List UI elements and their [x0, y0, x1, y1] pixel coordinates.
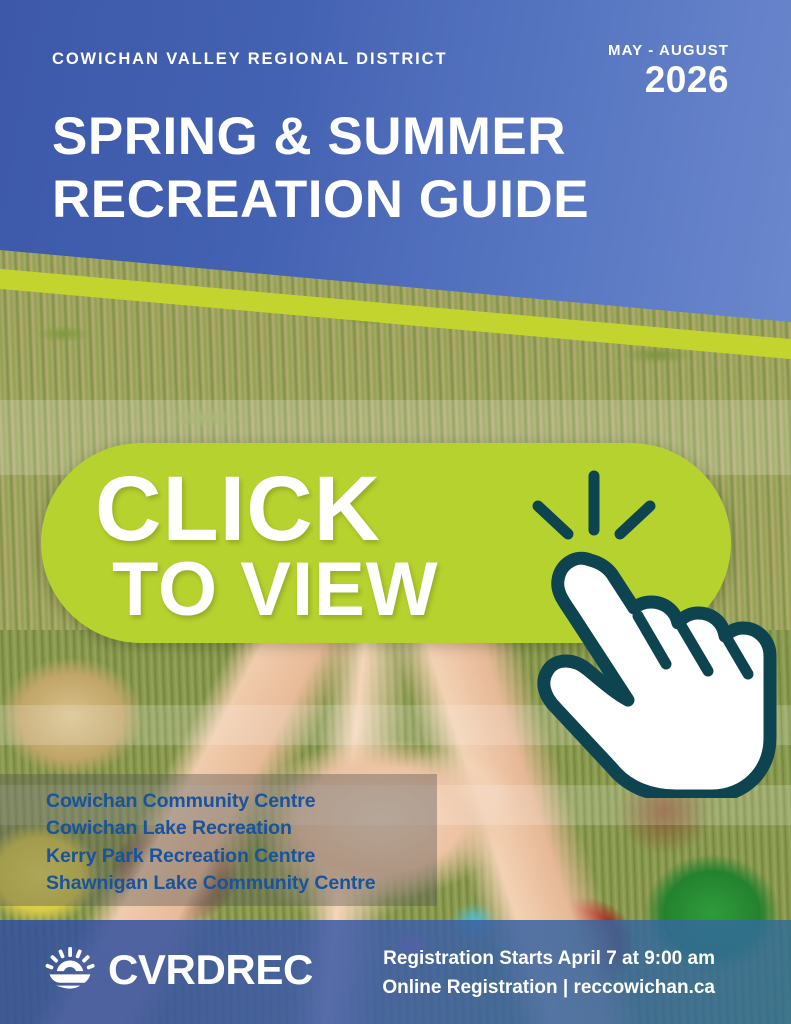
title-line-2: RECREATION GUIDE — [52, 169, 589, 232]
registration-info: Registration Starts April 7 at 9:00 am O… — [382, 944, 715, 1003]
registration-start-line: Registration Starts April 7 at 9:00 am — [382, 944, 715, 973]
season-block: MAY - AUGUST 2026 — [608, 42, 729, 100]
recreation-guide-cover: COWICHAN VALLEY REGIONAL DISTRICT MAY - … — [0, 0, 791, 1024]
cvrdrec-logo[interactable]: CVRDREC — [44, 944, 313, 996]
season-range-label: MAY - AUGUST — [608, 42, 729, 59]
facility-item[interactable]: Kerry Park Recreation Centre — [46, 843, 376, 870]
cta-line-to-view[interactable]: TO VIEW — [112, 552, 439, 628]
title-line-1: SPRING & SUMMER — [52, 106, 589, 169]
cta-line-click[interactable]: CLICK — [95, 463, 381, 555]
cvrdrec-wordmark: CVRDREC — [108, 949, 313, 991]
facility-item[interactable]: Shawnigan Lake Community Centre — [46, 870, 376, 897]
facility-list: Cowichan Community Centre Cowichan Lake … — [46, 788, 376, 897]
organization-name: COWICHAN VALLEY REGIONAL DISTRICT — [52, 50, 447, 69]
sunrise-over-water-logo-icon — [44, 944, 96, 996]
page-title: SPRING & SUMMER RECREATION GUIDE — [52, 106, 589, 231]
season-year-label: 2026 — [608, 61, 729, 100]
online-registration-line[interactable]: Online Registration | reccowichan.ca — [382, 973, 715, 1002]
pointing-hand-cursor-icon — [516, 468, 782, 798]
facility-item[interactable]: Cowichan Community Centre — [46, 788, 376, 815]
facility-item[interactable]: Cowichan Lake Recreation — [46, 815, 376, 842]
